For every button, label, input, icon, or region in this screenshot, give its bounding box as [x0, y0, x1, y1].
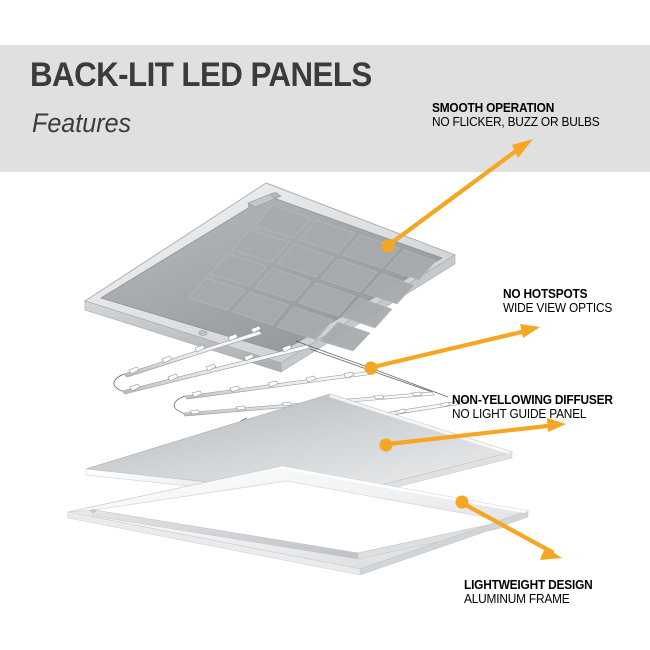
- callout-subtitle: NO FLICKER, BUZZ OR BULBS: [432, 115, 599, 129]
- aluminum-frame: [68, 466, 528, 575]
- led-strip: [122, 345, 310, 394]
- housing-connector-bracket: [248, 193, 281, 211]
- led-strip: [183, 392, 434, 416]
- led-strip-array: [114, 326, 468, 438]
- callout-subtitle: WIDE VIEW OPTICS: [503, 301, 612, 315]
- page-title: BACK-LIT LED PANELS: [30, 56, 372, 95]
- housing-cell-grid: [188, 205, 436, 351]
- callout-title: LIGHTWEIGHT DESIGN: [464, 578, 593, 592]
- led-strip: [245, 400, 468, 438]
- callout-smooth-operation: SMOOTH OPERATION NO FLICKER, BUZZ OR BUL…: [432, 101, 608, 129]
- callout-arrow-diffuser: [380, 418, 567, 452]
- callout-non-yellowing-diffuser: NON-YELLOWING DIFFUSER NO LIGHT GUIDE PA…: [452, 393, 621, 421]
- callout-lightweight-design: LIGHTWEIGHT DESIGN ALUMINUM FRAME: [464, 578, 599, 606]
- callout-arrows: [365, 139, 567, 560]
- infographic-page: BACK-LIT LED PANELS Features: [0, 0, 650, 650]
- frame-screw: [90, 510, 95, 513]
- diffuser-panel: [86, 394, 512, 512]
- callout-title: NON-YELLOWING DIFFUSER: [452, 393, 613, 407]
- page-subtitle: Features: [32, 108, 131, 139]
- callout-subtitle: NO LIGHT GUIDE PANEL: [452, 407, 613, 421]
- callout-arrow-no-hotspots: [365, 324, 541, 375]
- led-strip: [124, 326, 262, 377]
- callout-title: SMOOTH OPERATION: [432, 101, 599, 115]
- callout-no-hotspots: NO HOTSPOTS WIDE VIEW OPTICS: [503, 287, 618, 315]
- callout-title: NO HOTSPOTS: [503, 287, 612, 301]
- housing-screw: [199, 331, 207, 336]
- callout-subtitle: ALUMINUM FRAME: [464, 592, 593, 606]
- callout-arrow-lightweight: [456, 496, 563, 561]
- led-strip: [185, 371, 374, 399]
- back-housing-panel: [85, 183, 455, 372]
